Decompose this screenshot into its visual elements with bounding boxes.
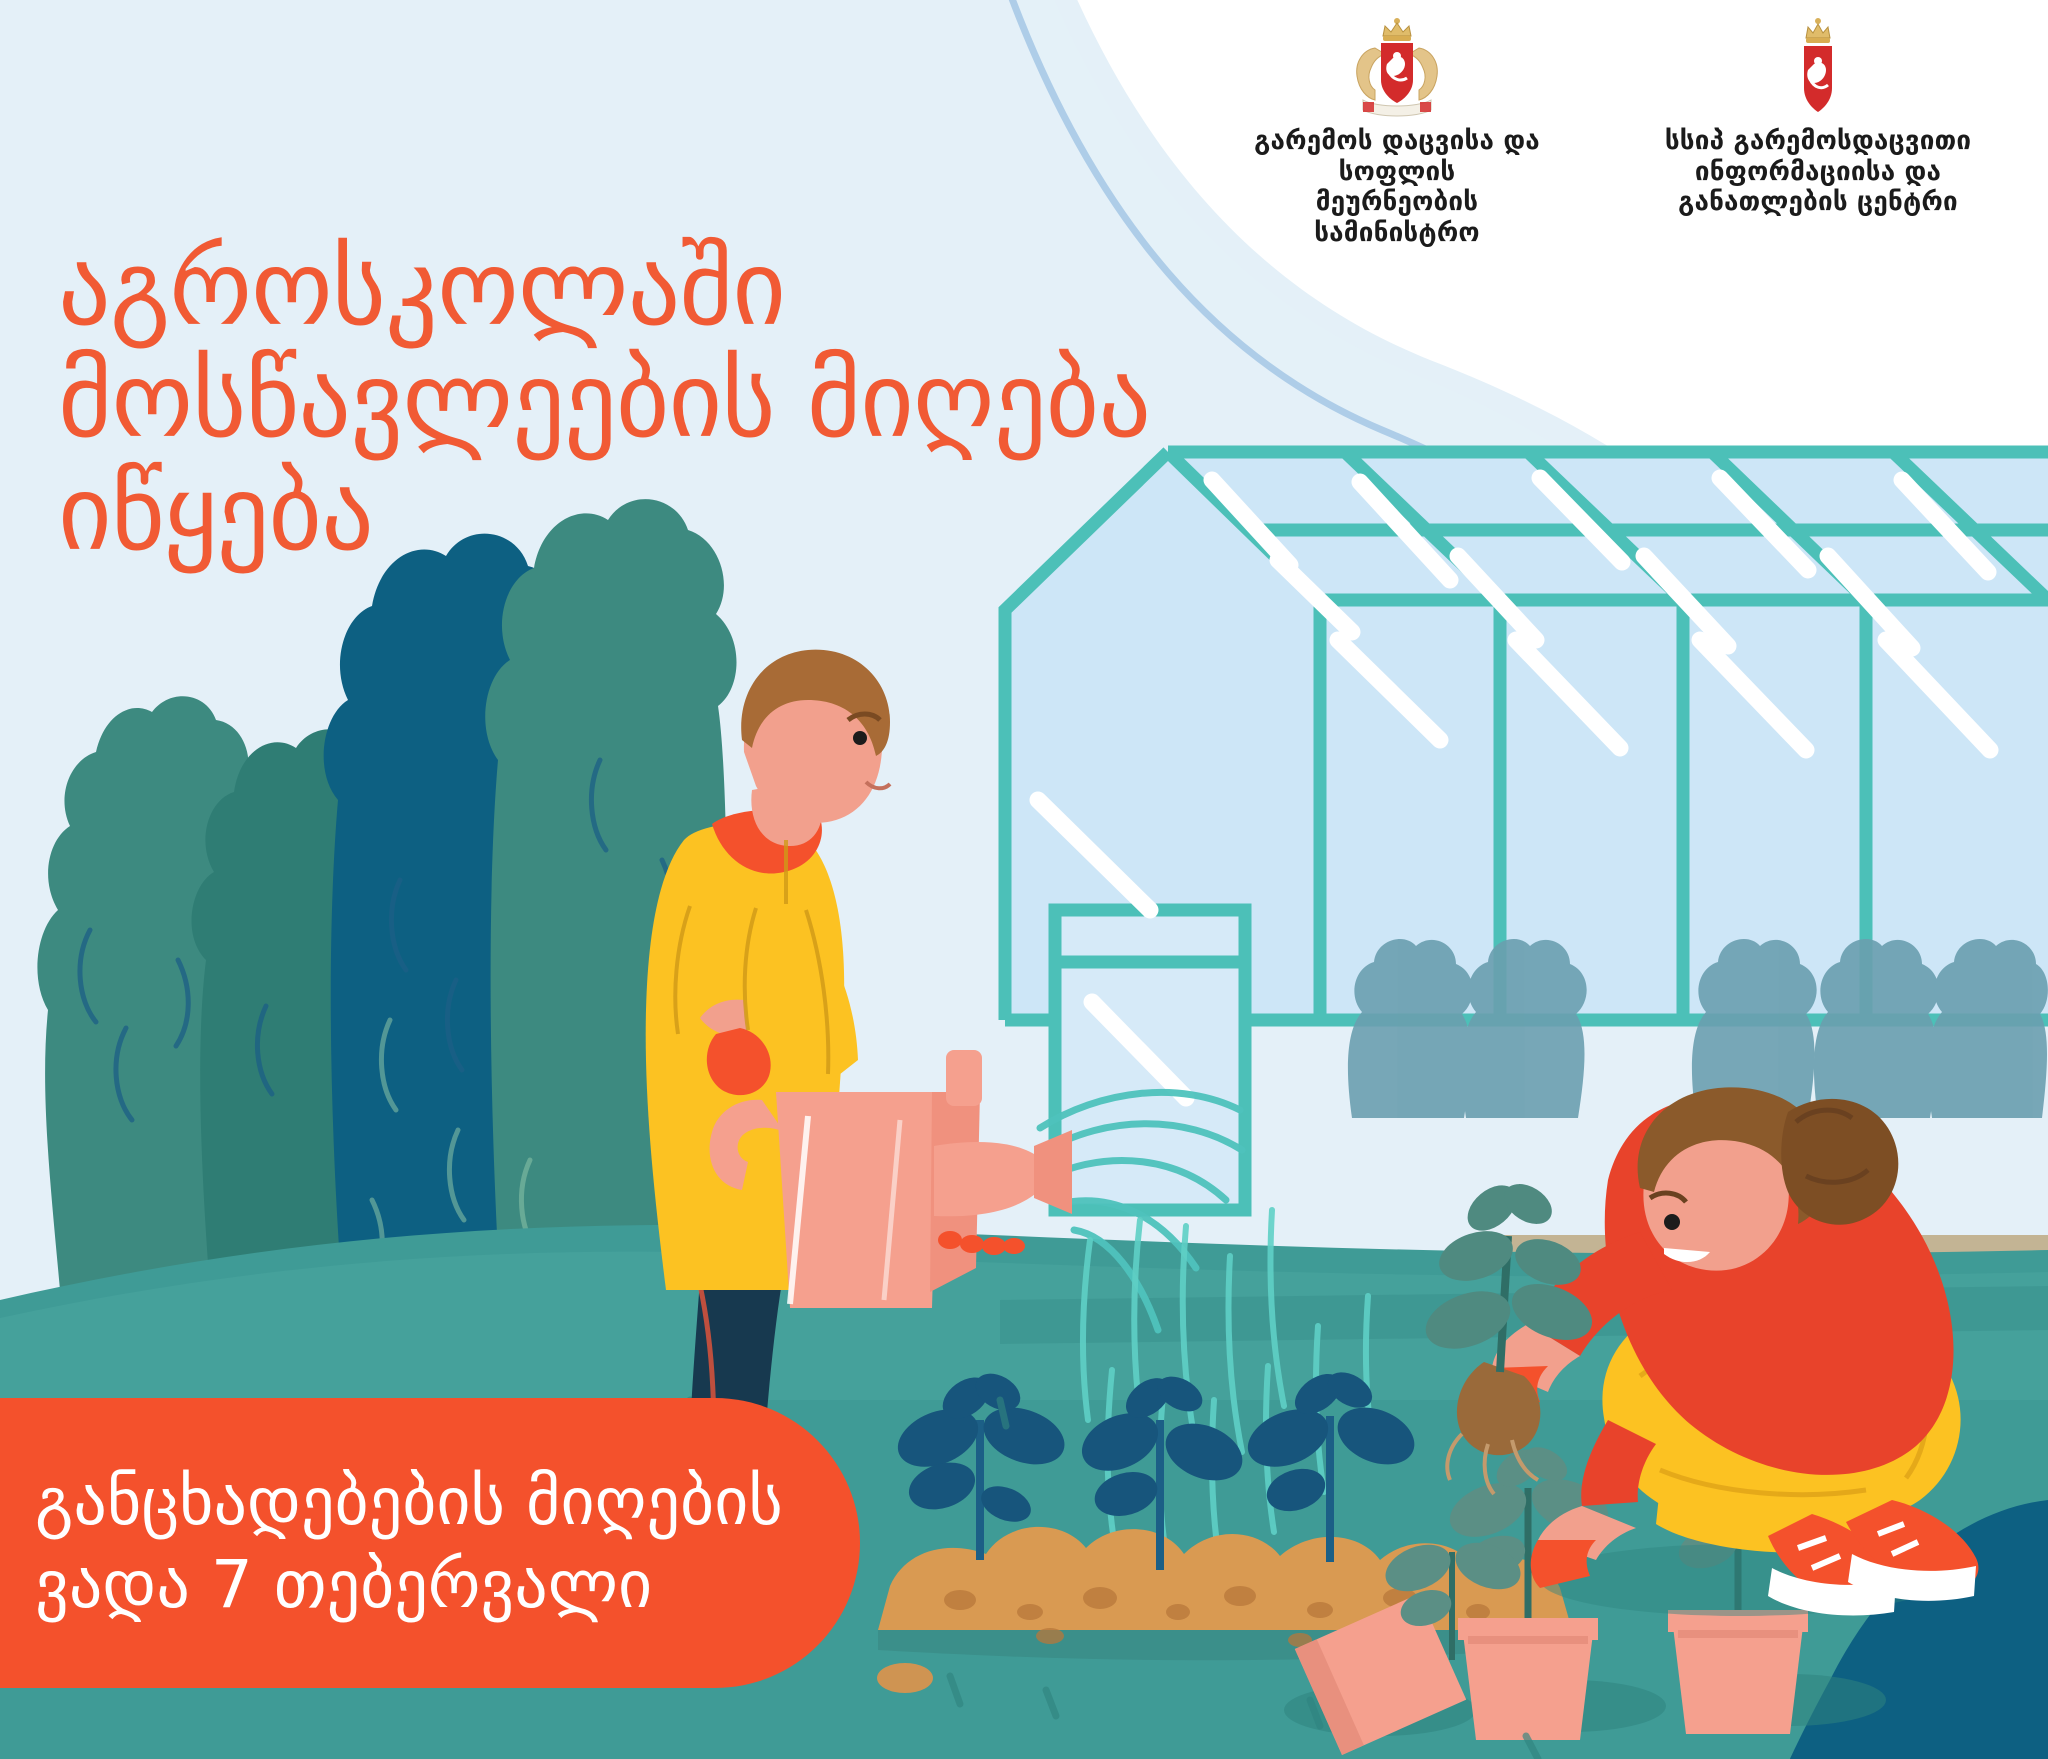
headline-line-2: მოსწავლეების მიღება [58,344,1238,456]
georgia-shield-icon [1762,14,1874,126]
georgia-coat-of-arms-icon [1341,14,1453,126]
page-title: აგროსკოლაში მოსწავლეების მიღება იწყება [58,232,1238,569]
center-logo-block: სსიპ გარემოსდაცვითი ინფორმაციისა და განა… [1648,14,1988,218]
center-logo-line-1: სსიპ გარემოსდაცვითი [1648,126,1988,157]
headline-line-3: იწყება [58,457,1238,569]
center-logo-line-2: ინფორმაციისა და [1648,157,1988,188]
bush-1 [1348,939,1473,1118]
bush-4 [1814,939,1939,1118]
bush-2 [1462,939,1587,1118]
can-spout-top [946,1050,982,1106]
center-logo-line-3: განათლების ცენტრი [1648,187,1988,218]
headline-line-1: აგროსკოლაში [58,232,1238,344]
deadline-banner: განცხადებების მიღების ვადა 7 თებერვალი [0,1398,860,1688]
poster-canvas: გარემოს დაცვისა და სოფლის მეურნეობის სამ… [0,0,2048,1759]
deadline-line-2: ვადა 7 თებერვალი [35,1543,860,1626]
woman-eye [1664,1214,1680,1230]
ministry-logo-block: გარემოს დაცვისა და სოფლის მეურნეობის სამ… [1232,14,1562,249]
man-eye [853,731,867,745]
ministry-logo-line-1: გარემოს დაცვისა და სოფლის [1232,126,1562,187]
deadline-line-1: განცხადებების მიღების [35,1460,860,1543]
ministry-logo-line-2: მეურნეობის სამინისტრო [1232,187,1562,248]
